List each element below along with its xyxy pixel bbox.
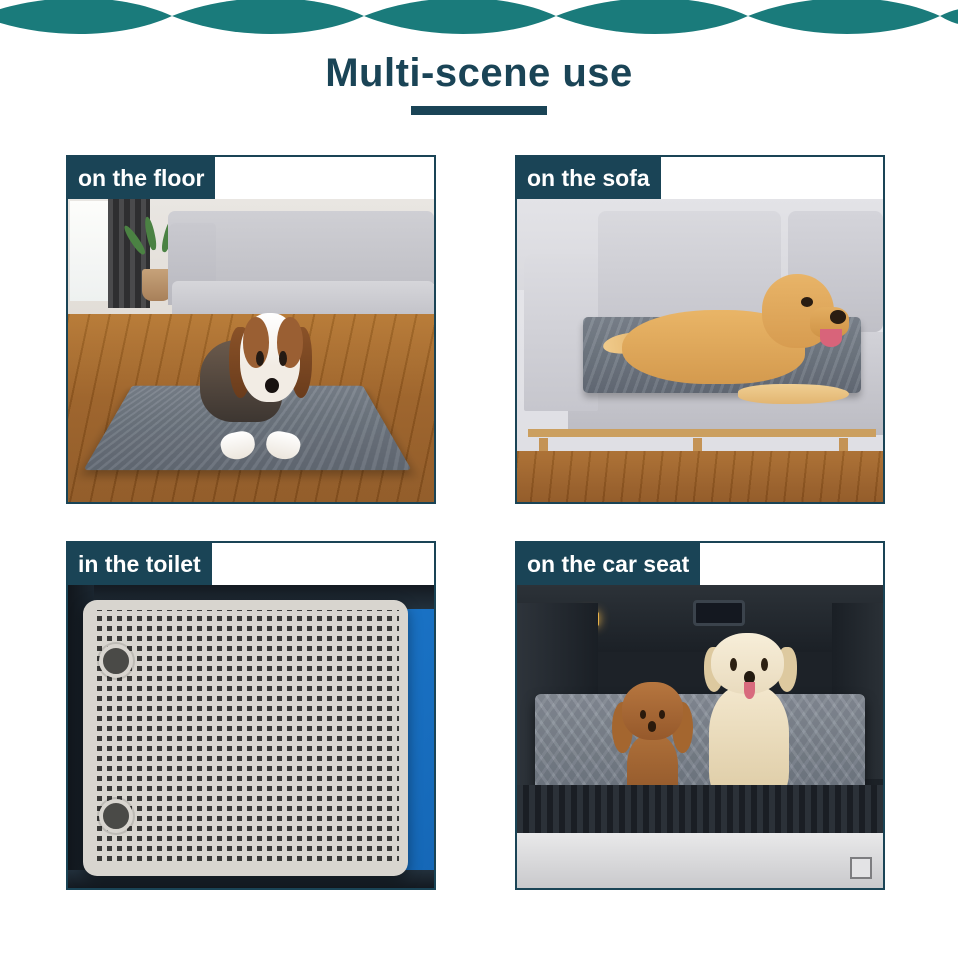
grid-litter-tray (83, 600, 409, 876)
scene-panel-on-the-floor[interactable]: on the floor (66, 155, 436, 504)
dog-paw-right (264, 429, 303, 463)
wave-graphic (0, 0, 958, 38)
dog-eye-left (640, 710, 646, 719)
dog-tongue (820, 329, 842, 347)
scene-panel-on-the-car-seat[interactable]: on the car seat (515, 541, 885, 890)
beagle-dog (192, 293, 324, 463)
dog-tongue (744, 682, 755, 699)
scene-panel-grid: on the floor (66, 155, 886, 890)
dog-front-legs (738, 384, 849, 404)
scene-photo-on-the-sofa (517, 199, 883, 502)
dog-nose (648, 721, 657, 731)
tray-drain-hole-top (99, 644, 133, 678)
panel-label-filler (661, 157, 883, 199)
panel-label-filler (215, 157, 434, 199)
dog-eye-right (761, 658, 768, 671)
header-wave-band (0, 0, 958, 38)
page-title: Multi-scene use (0, 52, 958, 94)
panel-label-row: on the sofa (517, 157, 883, 199)
scene-photo-on-the-floor (68, 199, 434, 502)
car-badge (850, 857, 872, 879)
panel-label-row: in the toilet (68, 543, 434, 585)
scene-photo-in-the-toilet (68, 585, 434, 888)
window (70, 201, 112, 301)
scene-panel-on-the-sofa[interactable]: on the sofa (515, 155, 885, 504)
page-title-block: Multi-scene use (0, 52, 958, 115)
dog-head (622, 682, 683, 741)
dog-nose (830, 310, 847, 324)
panel-label-filler (700, 543, 883, 585)
panel-label-row: on the car seat (517, 543, 883, 585)
trunk-handle (693, 600, 745, 626)
panel-label-row: on the floor (68, 157, 434, 199)
golden-retriever-dog (612, 272, 854, 399)
dog-paw-left (219, 429, 258, 463)
trunk-sill (517, 785, 883, 833)
dog-eye-left (256, 351, 264, 366)
scene-panel-in-the-toilet[interactable]: in the toilet (66, 541, 436, 890)
scene-photo-on-the-car-seat (517, 585, 883, 888)
panel-label-on-the-floor: on the floor (68, 157, 215, 199)
title-underline (411, 106, 547, 115)
sofa-base-rail (528, 429, 876, 437)
panel-label-filler (212, 543, 434, 585)
wood-floor (517, 451, 883, 503)
tray-grid-mesh (92, 610, 398, 866)
car-bumper (517, 833, 883, 888)
panel-label-on-the-car-seat: on the car seat (517, 543, 700, 585)
leaf (143, 216, 158, 251)
dog-eye (801, 297, 813, 307)
panel-label-in-the-toilet: in the toilet (68, 543, 212, 585)
tray-drain-hole-bottom (99, 799, 133, 833)
panel-label-on-the-sofa: on the sofa (517, 157, 661, 199)
